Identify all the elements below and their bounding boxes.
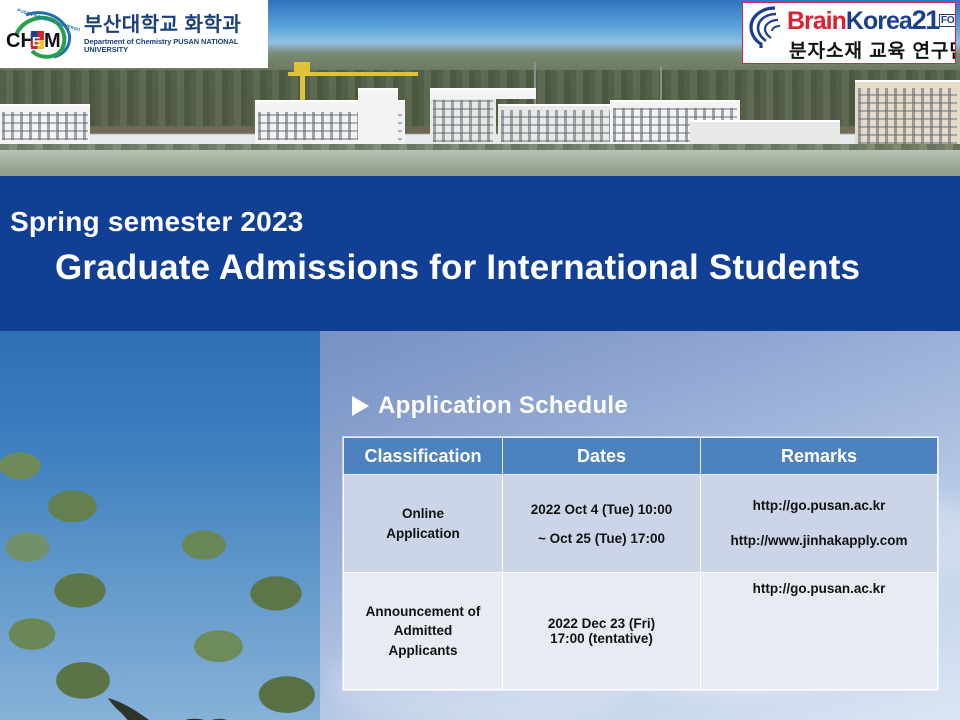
chem-logo-text: 부산대학교 화학과 Department of Chemistry PUSAN …: [84, 15, 268, 53]
eagle-statue-icon: [78, 686, 278, 720]
pine-trees-left: [0, 431, 140, 720]
four-badge: FOUR: [939, 14, 956, 27]
svg-text:M: M: [44, 30, 61, 52]
title-banner: Spring semester 2023 Graduate Admissions…: [0, 176, 960, 331]
column-header-remarks: Remarks: [701, 438, 938, 475]
svg-text:E: E: [32, 34, 41, 49]
brain-head-icon: [745, 5, 791, 49]
dates-line-2: ~ Oct 25 (Tue) 17:00: [538, 531, 665, 546]
classification-line-1: Online: [402, 506, 444, 521]
korea-word: Korea: [846, 7, 912, 35]
chem-korean-title: 부산대학교 화학과: [84, 15, 268, 35]
cell-remarks: http://go.pusan.ac.kr http://www.jinhaka…: [701, 475, 938, 573]
brainkorea-korean-subtitle: 분자소재 교육 연구단: [789, 36, 956, 63]
banner-subtitle: Spring semester 2023: [10, 206, 304, 238]
spacer: [507, 517, 696, 531]
remarks-link-2[interactable]: http://www.jinhakapply.com: [705, 531, 933, 551]
statue-photo: 웅비의 탑: [0, 331, 320, 720]
cell-classification: Online Application: [344, 475, 503, 573]
classification-line-2: Application: [386, 526, 460, 541]
brain-word: Brain: [787, 7, 846, 35]
table-row: Announcement of Admitted Applicants 2022…: [344, 573, 938, 690]
triangle-right-icon: [352, 396, 369, 416]
cell-dates: 2022 Oct 4 (Tue) 10:00 ~ Oct 25 (Tue) 17…: [503, 475, 701, 573]
application-schedule-table: Classification Dates Remarks Online Appl…: [343, 437, 938, 690]
building-windows: [2, 112, 88, 140]
dates-line-2: 17:00 (tentative): [550, 631, 653, 646]
chem-english-title: Department of Chemistry PUSAN NATIONAL U…: [84, 38, 268, 53]
application-schedule-heading: Application Schedule: [352, 392, 628, 420]
column-header-dates: Dates: [503, 438, 701, 475]
building-windows: [433, 100, 493, 142]
dates-line-1: 2022 Dec 23 (Fri): [548, 616, 655, 631]
table-header-row: Classification Dates Remarks: [344, 438, 938, 475]
building-windows: [858, 88, 957, 144]
cell-classification: Announcement of Admitted Applicants: [344, 573, 503, 690]
dates-line-1: 2022 Oct 4 (Tue) 10:00: [531, 502, 673, 517]
section-heading-label: Application Schedule: [378, 392, 628, 420]
cell-remarks: http://go.pusan.ac.kr: [701, 573, 938, 690]
remarks-link-1[interactable]: http://go.pusan.ac.kr: [705, 579, 933, 599]
slide-root: PUSAN NATIONAL UNIVERSITY CH M E 부산대학교 화…: [0, 0, 960, 720]
campus-building: [430, 88, 536, 99]
cell-dates: 2022 Dec 23 (Fri) 17:00 (tentative): [503, 573, 701, 690]
construction-crane-top: [294, 62, 310, 74]
classification-line-3: Applicants: [388, 643, 457, 658]
classification-line-1: Announcement of: [366, 604, 481, 619]
brainkorea-wordmark: BrainKorea21FOUR: [787, 7, 956, 34]
banner-title: Graduate Admissions for International St…: [55, 248, 860, 288]
classification-line-2: Admitted: [394, 623, 453, 638]
twentyone-number: 21: [912, 5, 939, 35]
campus-building: [358, 88, 398, 150]
brainkorea21-logo: BrainKorea21FOUR 분자소재 교육 연구단: [742, 2, 956, 64]
remarks-link-1[interactable]: http://go.pusan.ac.kr: [705, 496, 933, 516]
svg-text:CH: CH: [6, 30, 35, 52]
building-windows: [501, 110, 613, 142]
table-row: Online Application 2022 Oct 4 (Tue) 10:0…: [344, 475, 938, 573]
chem-emblem-icon: PUSAN NATIONAL UNIVERSITY CH M E: [4, 5, 80, 63]
column-header-classification: Classification: [344, 438, 503, 475]
spacer: [705, 517, 933, 531]
pnu-chemistry-logo: PUSAN NATIONAL UNIVERSITY CH M E 부산대학교 화…: [0, 0, 268, 68]
foreground-ground: [0, 150, 960, 178]
